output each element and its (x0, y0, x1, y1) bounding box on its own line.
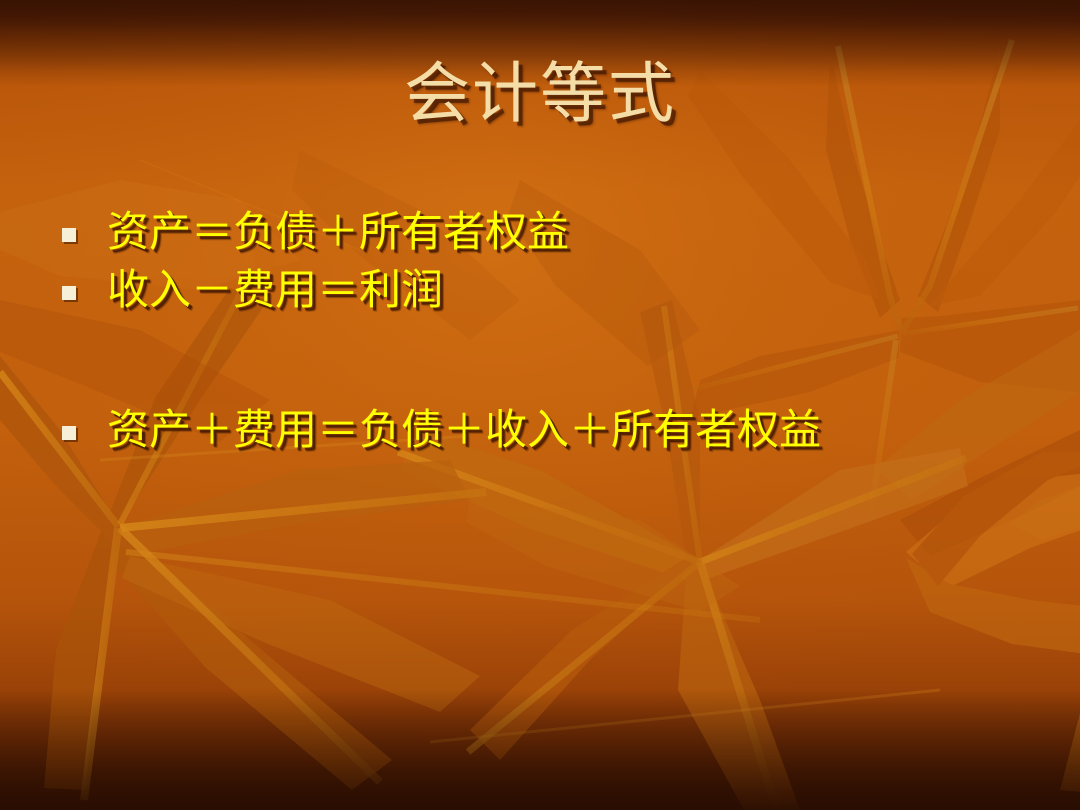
list-item[interactable]: 资产＋费用＝负债＋收入＋所有者权益 (62, 401, 1022, 459)
slide-title: 会计等式 (0, 58, 1080, 129)
list-item-text: 收入－费用＝利润 (107, 269, 443, 311)
list-item[interactable]: 收入－费用＝利润 (62, 261, 1022, 319)
list-item-text: 资产＋费用＝负债＋收入＋所有者权益 (107, 409, 821, 451)
square-bullet-icon (62, 228, 76, 242)
bullet-list: 资产＝负债＋所有者权益 收入－费用＝利润 资产＋费用＝负债＋收入＋所有者权益 (62, 203, 1022, 459)
square-bullet-icon (62, 426, 76, 440)
square-bullet-icon (62, 286, 76, 300)
presentation-slide: 会计等式 资产＝负债＋所有者权益 收入－费用＝利润 资产＋费用＝负债＋收入＋所有… (0, 0, 1080, 810)
list-item[interactable]: 资产＝负债＋所有者权益 (62, 203, 1022, 261)
list-item-text: 资产＝负债＋所有者权益 (107, 211, 569, 253)
